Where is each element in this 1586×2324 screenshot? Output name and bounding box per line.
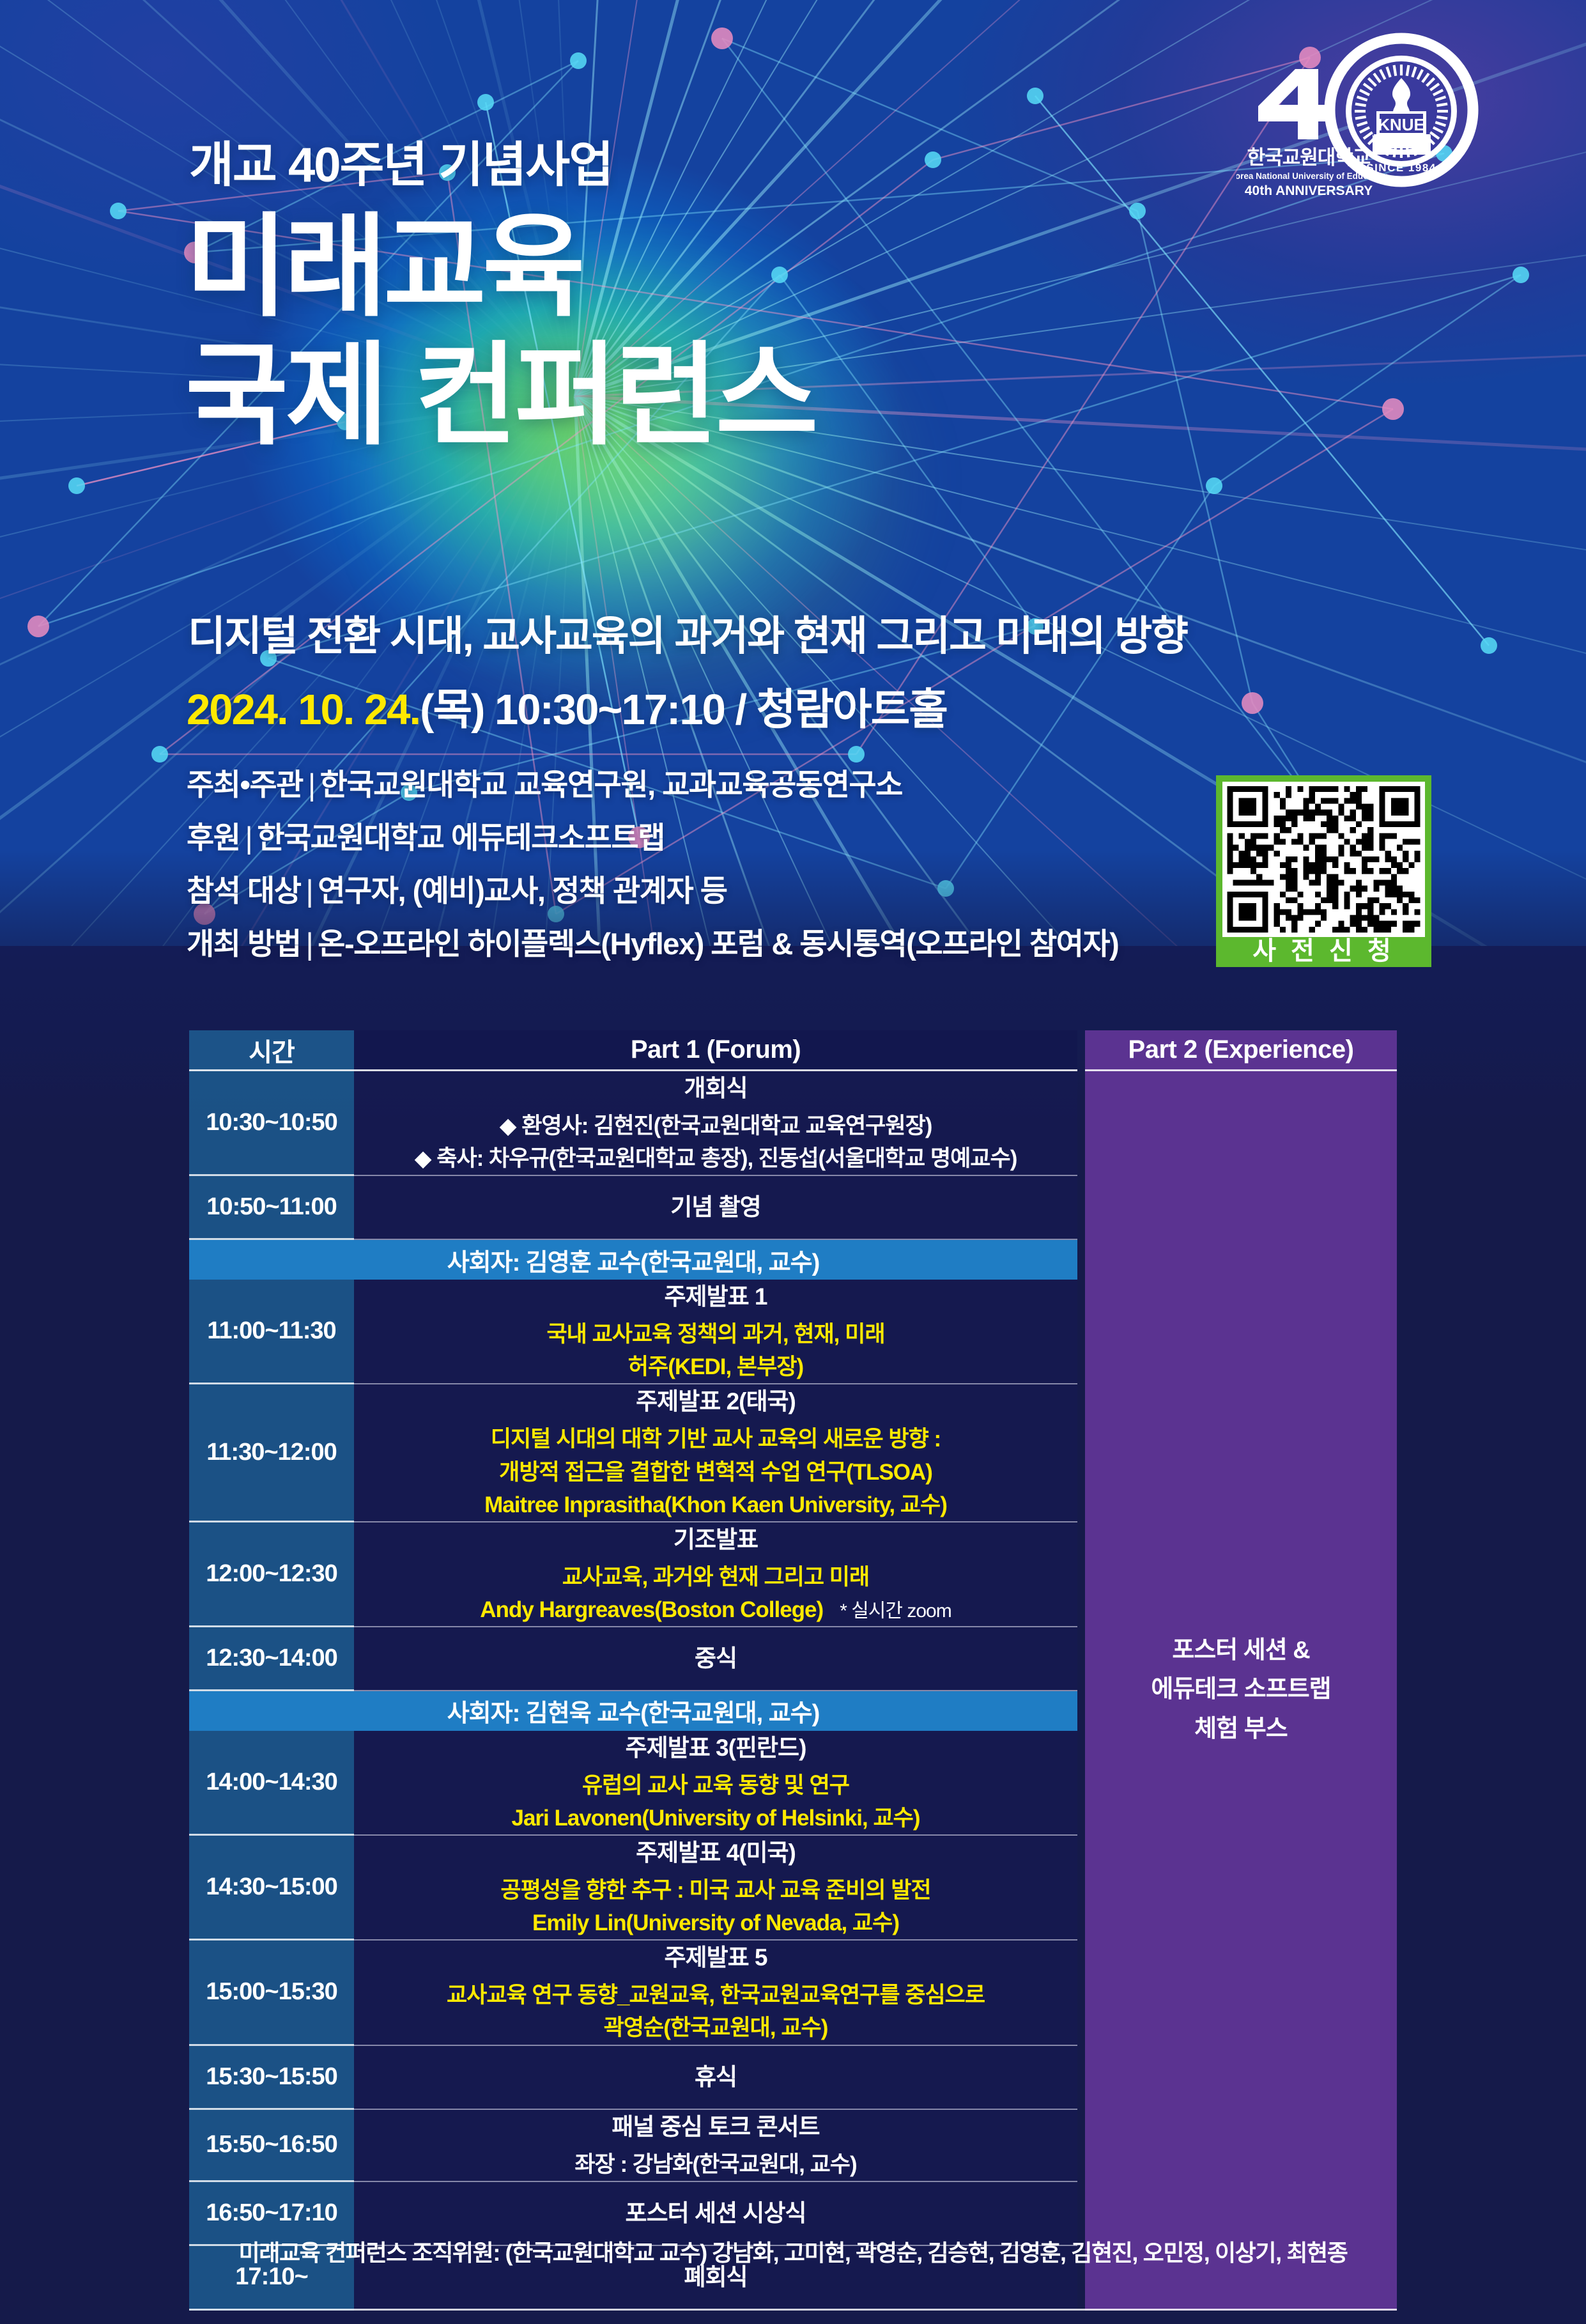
- info-row-audience: 참석 대상|연구자, (예비)교사, 정책 관계자 등: [187, 876, 1183, 906]
- session-content: 주제발표 1국내 교사교육 정책의 과거, 현재, 미래허주(KEDI, 본부장…: [354, 1280, 1077, 1384]
- part2-line: 체험 부스: [1085, 1710, 1397, 1749]
- session-time: 12:00~12:30: [189, 1522, 354, 1627]
- moderator-label: 사회자: 김영훈 교수(한국교원대, 교수): [189, 1240, 1077, 1280]
- session-highlight-line: 교사교육, 과거와 현재 그리고 미래: [354, 1561, 1077, 1593]
- schedule-table: 시간 Part 1 (Forum) Part 2 (Experience) 10…: [189, 1030, 1397, 2311]
- part2-experience-cell: 포스터 세션 &에듀테크 소프트랩체험 부스: [1085, 1071, 1397, 2311]
- session-time: 14:00~14:30: [189, 1731, 354, 1836]
- column-gap: [1077, 1627, 1085, 1691]
- event-info-block: 주최•주관|한국교원대학교 교육연구원, 교과교육공동연구소 후원|한국교원대학…: [187, 770, 1183, 982]
- session-label: 기념 촬영: [670, 1194, 760, 1220]
- info-row-sponsor: 후원|한국교원대학교 에듀테크소프트랩: [187, 823, 1183, 853]
- info-sep-0: |: [303, 768, 320, 802]
- part2-line: 에듀테크 소프트랩: [1085, 1670, 1397, 1710]
- session-title: 주제발표 4(미국): [354, 1836, 1077, 1870]
- session-content: 기조발표교사교육, 과거와 현재 그리고 미래Andy Hargreaves(B…: [354, 1522, 1077, 1627]
- column-gap: [1077, 1836, 1085, 1941]
- column-gap: [1077, 1240, 1085, 1280]
- session-highlight-line: Emily Lin(University of Nevada, 교수): [354, 1907, 1077, 1939]
- page-title-line1: 미래교육: [185, 205, 581, 330]
- info-label-format: 개최 방법: [187, 927, 301, 961]
- session-time: 15:00~15:30: [189, 1941, 354, 2045]
- session-time: 11:30~12:00: [189, 1384, 354, 1522]
- session-title: 주제발표 2(태국): [354, 1384, 1077, 1419]
- page-subtitle: 디지털 전환 시대, 교사교육의 과거와 현재 그리고 미래의 방향: [188, 603, 1187, 662]
- session-time: 14:30~15:00: [189, 1836, 354, 1941]
- info-label-audience: 참석 대상: [187, 874, 301, 908]
- page-title: 미래교육 국제 컨퍼런스: [185, 211, 1220, 453]
- session-content: 주제발표 3(핀란드)유럽의 교사 교육 동향 및 연구Jari Lavonen…: [354, 1731, 1077, 1836]
- info-row-format: 개최 방법|온-오프라인 하이플렉스(Hyflex) 포럼 & 동시통역(오프라…: [187, 929, 1183, 959]
- column-gap: [1077, 2046, 1085, 2110]
- info-sep-1: |: [240, 821, 257, 855]
- session-highlight-line: 국내 교사교육 정책의 과거, 현재, 미래: [354, 1318, 1077, 1351]
- session-title: 개회식: [354, 1071, 1077, 1106]
- session-detail-line: ◆ 축사: 차우규(한국교원대학교 총장), 진동섭(서울대학교 명예교수): [354, 1142, 1077, 1175]
- event-time-venue: (목) 10:30~17:10 / 청람아트홀: [420, 686, 947, 734]
- column-gap: [1077, 1731, 1085, 1836]
- column-gap: [1077, 2110, 1085, 2182]
- session-detail-line: ◆ 환영사: 김현진(한국교원대학교 교육연구원장): [354, 1110, 1077, 1142]
- page-title-line2: 국제 컨퍼런스: [185, 339, 1220, 454]
- session-highlight-line: 곽영순(한국교원대, 교수): [354, 2011, 1077, 2044]
- session-content: 주제발표 2(태국)디지털 시대의 대학 기반 교사 교육의 새로운 방향 :개…: [354, 1384, 1077, 1522]
- info-row-host: 주최•주관|한국교원대학교 교육연구원, 교과교육공동연구소: [187, 770, 1183, 800]
- column-gap: [1077, 1280, 1085, 1384]
- session-title: 주제발표 5: [354, 1941, 1077, 1975]
- info-label-sponsor: 후원: [187, 821, 240, 855]
- session-time: 15:30~15:50: [189, 2046, 354, 2110]
- session-highlight-line: Jari Lavonen(University of Helsinki, 교수): [354, 1802, 1077, 1834]
- session-time: 12:30~14:00: [189, 1627, 354, 1691]
- info-sep-2: |: [301, 874, 318, 908]
- preregistration-qr-block[interactable]: 사 전 신 청: [1216, 775, 1431, 967]
- session-content: 휴식: [354, 2046, 1077, 2110]
- organizing-committee-note: 미래교육 컨퍼런스 조직위원: (한국교원대학교 교수) 강남화, 고미현, 곽…: [0, 2235, 1586, 2268]
- info-label-host: 주최•주관: [187, 768, 303, 802]
- column-gap: [1077, 1522, 1085, 1627]
- session-title: 패널 중심 토크 콘서트: [354, 2110, 1077, 2144]
- session-content: 주제발표 4(미국)공평성을 향한 추구 : 미국 교사 교육 준비의 발전Em…: [354, 1836, 1077, 1941]
- moderator-label: 사회자: 김현욱 교수(한국교원대, 교수): [189, 1691, 1077, 1731]
- info-value-sponsor: 한국교원대학교 에듀테크소프트랩: [257, 821, 665, 855]
- header-part2: Part 2 (Experience): [1085, 1030, 1397, 1071]
- event-date: 2024. 10. 24.: [187, 686, 420, 734]
- info-sep-3: |: [301, 927, 318, 961]
- info-value-format: 온-오프라인 하이플렉스(Hyflex) 포럼 & 동시통역(오프라인 참여자): [318, 927, 1118, 961]
- qr-code-icon[interactable]: [1222, 782, 1425, 937]
- session-content: 주제발표 5교사교육 연구 동향_교원교육, 한국교원교육연구를 중심으로곽영순…: [354, 1941, 1077, 2045]
- column-gap: [1077, 1030, 1085, 1071]
- session-time: 11:00~11:30: [189, 1280, 354, 1384]
- session-highlight-line: 교사교육 연구 동향_교원교육, 한국교원교육연구를 중심으로: [354, 1979, 1077, 2011]
- session-label: 휴식: [695, 2064, 737, 2090]
- session-highlight-line: 허주(KEDI, 본부장): [354, 1351, 1077, 1383]
- column-gap: [1077, 1941, 1085, 2045]
- logo-univ-en: Korea National University of Education: [1236, 171, 1389, 181]
- session-content: 개회식◆ 환영사: 김현진(한국교원대학교 교육연구원장)◆ 축사: 차우규(한…: [354, 1071, 1077, 1176]
- logo-univ-kr: 한국교원대학교: [1247, 146, 1371, 169]
- logo-anniversary-en: 40th ANNIVERSARY: [1245, 183, 1373, 198]
- column-gap: [1077, 1071, 1085, 1176]
- table-header-row: 시간 Part 1 (Forum) Part 2 (Experience): [189, 1030, 1397, 1071]
- session-content: 기념 촬영: [354, 1176, 1077, 1240]
- session-label: 중식: [695, 1645, 737, 1671]
- session-title: 주제발표 1: [354, 1280, 1077, 1314]
- session-highlight-line: 공평성을 향한 추구 : 미국 교사 교육 준비의 발전: [354, 1874, 1077, 1907]
- column-gap: [1077, 1384, 1085, 1522]
- session-time: 10:30~10:50: [189, 1071, 354, 1176]
- session-note: * 실시간 zoom: [823, 1600, 951, 1622]
- info-value-audience: 연구자, (예비)교사, 정책 관계자 등: [318, 874, 727, 908]
- session-highlight-line: 개방적 접근을 결합한 변혁적 수업 연구(TLSOA): [354, 1456, 1077, 1489]
- session-content: 중식: [354, 1627, 1077, 1691]
- info-value-host: 한국교원대학교 교육연구원, 교과교육공동연구소: [320, 768, 902, 802]
- qr-label: 사 전 신 청: [1216, 936, 1431, 966]
- header-time: 시간: [189, 1030, 354, 1071]
- session-highlight-line: 디지털 시대의 대학 기반 교사 교육의 새로운 방향 :: [354, 1423, 1077, 1455]
- session-highlight-line: Maitree Inprasitha(Khon Kaen University,…: [354, 1489, 1077, 1521]
- knue-40th-anniversary-logo: KNUE SINCE 1984 한국교원대학교 Korea National U…: [1236, 27, 1486, 209]
- column-gap: [1077, 1691, 1085, 1731]
- session-label: 포스터 세션 시상식: [626, 2200, 806, 2226]
- page-kicker: 개교 40주년 기념사업: [189, 125, 612, 196]
- column-gap: [1077, 1176, 1085, 1240]
- session-content: 패널 중심 토크 콘서트좌장 : 강남화(한국교원대, 교수): [354, 2110, 1077, 2182]
- session-title: 기조발표: [354, 1522, 1077, 1557]
- part2-line: 포스터 세션 &: [1085, 1631, 1397, 1671]
- session-title: 주제발표 3(핀란드): [354, 1731, 1077, 1765]
- conference-poster: KNUE SINCE 1984 한국교원대학교 Korea National U…: [0, 0, 1586, 2324]
- schedule-table-wrap: 시간 Part 1 (Forum) Part 2 (Experience) 10…: [189, 1030, 1397, 2311]
- session-highlight-line: 유럽의 교사 교육 동향 및 연구: [354, 1769, 1077, 1802]
- session-detail-line: 좌장 : 강남화(한국교원대, 교수): [354, 2148, 1077, 2181]
- event-datetime: 2024. 10. 24.(목) 10:30~17:10 / 청람아트홀: [187, 675, 947, 737]
- table-row: 10:30~10:50 개회식◆ 환영사: 김현진(한국교원대학교 교육연구원장…: [189, 1071, 1397, 1176]
- session-time: 10:50~11:00: [189, 1176, 354, 1240]
- header-part1: Part 1 (Forum): [354, 1030, 1077, 1071]
- session-highlight-line: Andy Hargreaves(Boston College)* 실시간 zoo…: [354, 1593, 1077, 1626]
- session-time: 15:50~16:50: [189, 2110, 354, 2182]
- logo-emblem-text: KNUE: [1378, 115, 1425, 134]
